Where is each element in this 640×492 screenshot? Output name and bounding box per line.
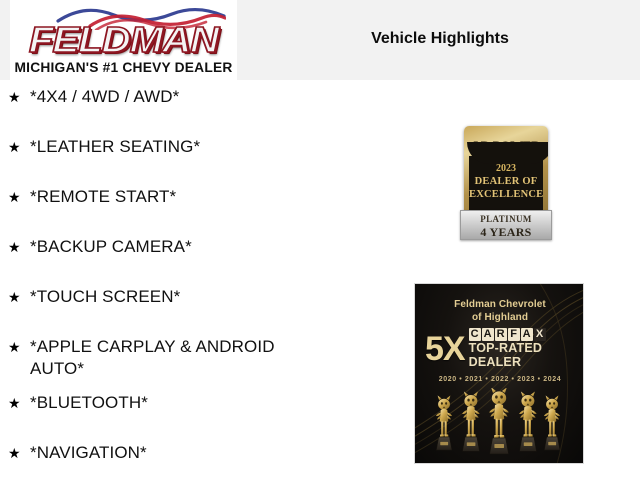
star-bullet-icon: ★ <box>8 186 30 208</box>
list-item-label: *BLUETOOTH* <box>30 392 340 414</box>
carfax-dealer-line2: of Highland <box>415 311 584 324</box>
star-bullet-icon: ★ <box>8 442 30 464</box>
vehicle-highlights-list: ★ *4X4 / 4WD / AWD* ★ *LEATHER SEATING* … <box>0 86 340 492</box>
list-item: ★ *APPLE CARPLAY & ANDROID AUTO* <box>0 336 340 392</box>
jd-power-year: 2023 <box>469 162 543 175</box>
page-title: Vehicle Highlights <box>240 30 640 48</box>
list-item: ★ *TOUCH SCREEN* <box>0 286 340 336</box>
jd-power-award-badge: J.D.POWER 2023 DEALER OF EXCELLENCE PLAT… <box>460 126 552 238</box>
carfax-letter: A <box>482 328 494 341</box>
jd-power-ribbon: PLATINUM 4 YEARS <box>460 210 552 240</box>
carfax-tagline-line1: TOP-RATED <box>469 341 546 355</box>
star-bullet-icon: ★ <box>8 392 30 414</box>
carfax-letter: C <box>469 328 481 341</box>
carfax-top-rated-dealer-award: Feldman Chevrolet of Highland 5X C A R F… <box>414 283 584 464</box>
jd-power-award-line2: EXCELLENCE <box>469 188 543 201</box>
star-bullet-icon: ★ <box>8 236 30 258</box>
list-item: ★ *NAVIGATION* <box>0 442 340 492</box>
list-item: ★ *BLUETOOTH* <box>0 392 340 442</box>
dealer-logo[interactable]: FELDMAN MICHIGAN'S #1 CHEVY DEALER <box>10 0 237 80</box>
star-bullet-icon: ★ <box>8 286 30 308</box>
list-item-label: *REMOTE START* <box>30 186 340 208</box>
carfax-dealer-name: Feldman Chevrolet of Highland <box>415 298 584 324</box>
carfax-letter: A <box>521 328 533 341</box>
list-item: ★ *LEATHER SEATING* <box>0 136 340 186</box>
list-item-label: *TOUCH SCREEN* <box>30 286 340 308</box>
logo-tagline: MICHIGAN'S #1 CHEVY DEALER <box>10 60 237 75</box>
list-item-label: *NAVIGATION* <box>30 442 340 464</box>
list-item: ★ *BACKUP CAMERA* <box>0 236 340 286</box>
carfax-tagline-line2: DEALER <box>469 355 546 369</box>
list-item-label: *BACKUP CAMERA* <box>30 236 340 258</box>
jd-power-inner-panel: 2023 DEALER OF EXCELLENCE <box>469 156 543 216</box>
star-bullet-icon: ★ <box>8 336 30 358</box>
page-header: FELDMAN MICHIGAN'S #1 CHEVY DEALER Vehic… <box>0 0 640 80</box>
carfax-trophy-figures-icon <box>435 388 565 460</box>
logo-wordmark: FELDMAN <box>10 20 237 60</box>
carfax-letter: F <box>508 328 520 341</box>
jd-power-award-line1: DEALER OF <box>469 175 543 188</box>
list-item: ★ *4X4 / 4WD / AWD* <box>0 86 340 136</box>
carfax-award-years: 2020 • 2021 • 2022 • 2023 • 2024 <box>415 376 584 383</box>
list-item-label: *APPLE CARPLAY & ANDROID AUTO* <box>30 336 340 380</box>
jd-power-duration: 4 YEARS <box>461 225 551 239</box>
carfax-logo: C A R F A X <box>469 328 546 341</box>
carfax-letter: R <box>495 328 507 341</box>
star-bullet-icon: ★ <box>8 86 30 108</box>
star-bullet-icon: ★ <box>8 136 30 158</box>
carfax-letter: X <box>534 328 546 341</box>
carfax-multiplier: 5X <box>425 332 465 366</box>
carfax-dealer-line1: Feldman Chevrolet <box>415 298 584 311</box>
carfax-award-headline: 5X C A R F A X TOP-RATED DEALER <box>425 328 577 369</box>
jd-power-tier: PLATINUM <box>461 213 551 225</box>
list-item: ★ *REMOTE START* <box>0 186 340 236</box>
list-item-label: *LEATHER SEATING* <box>30 136 340 158</box>
jd-power-plate: J.D.POWER 2023 DEALER OF EXCELLENCE <box>464 126 548 222</box>
list-item-label: *4X4 / 4WD / AWD* <box>30 86 340 108</box>
